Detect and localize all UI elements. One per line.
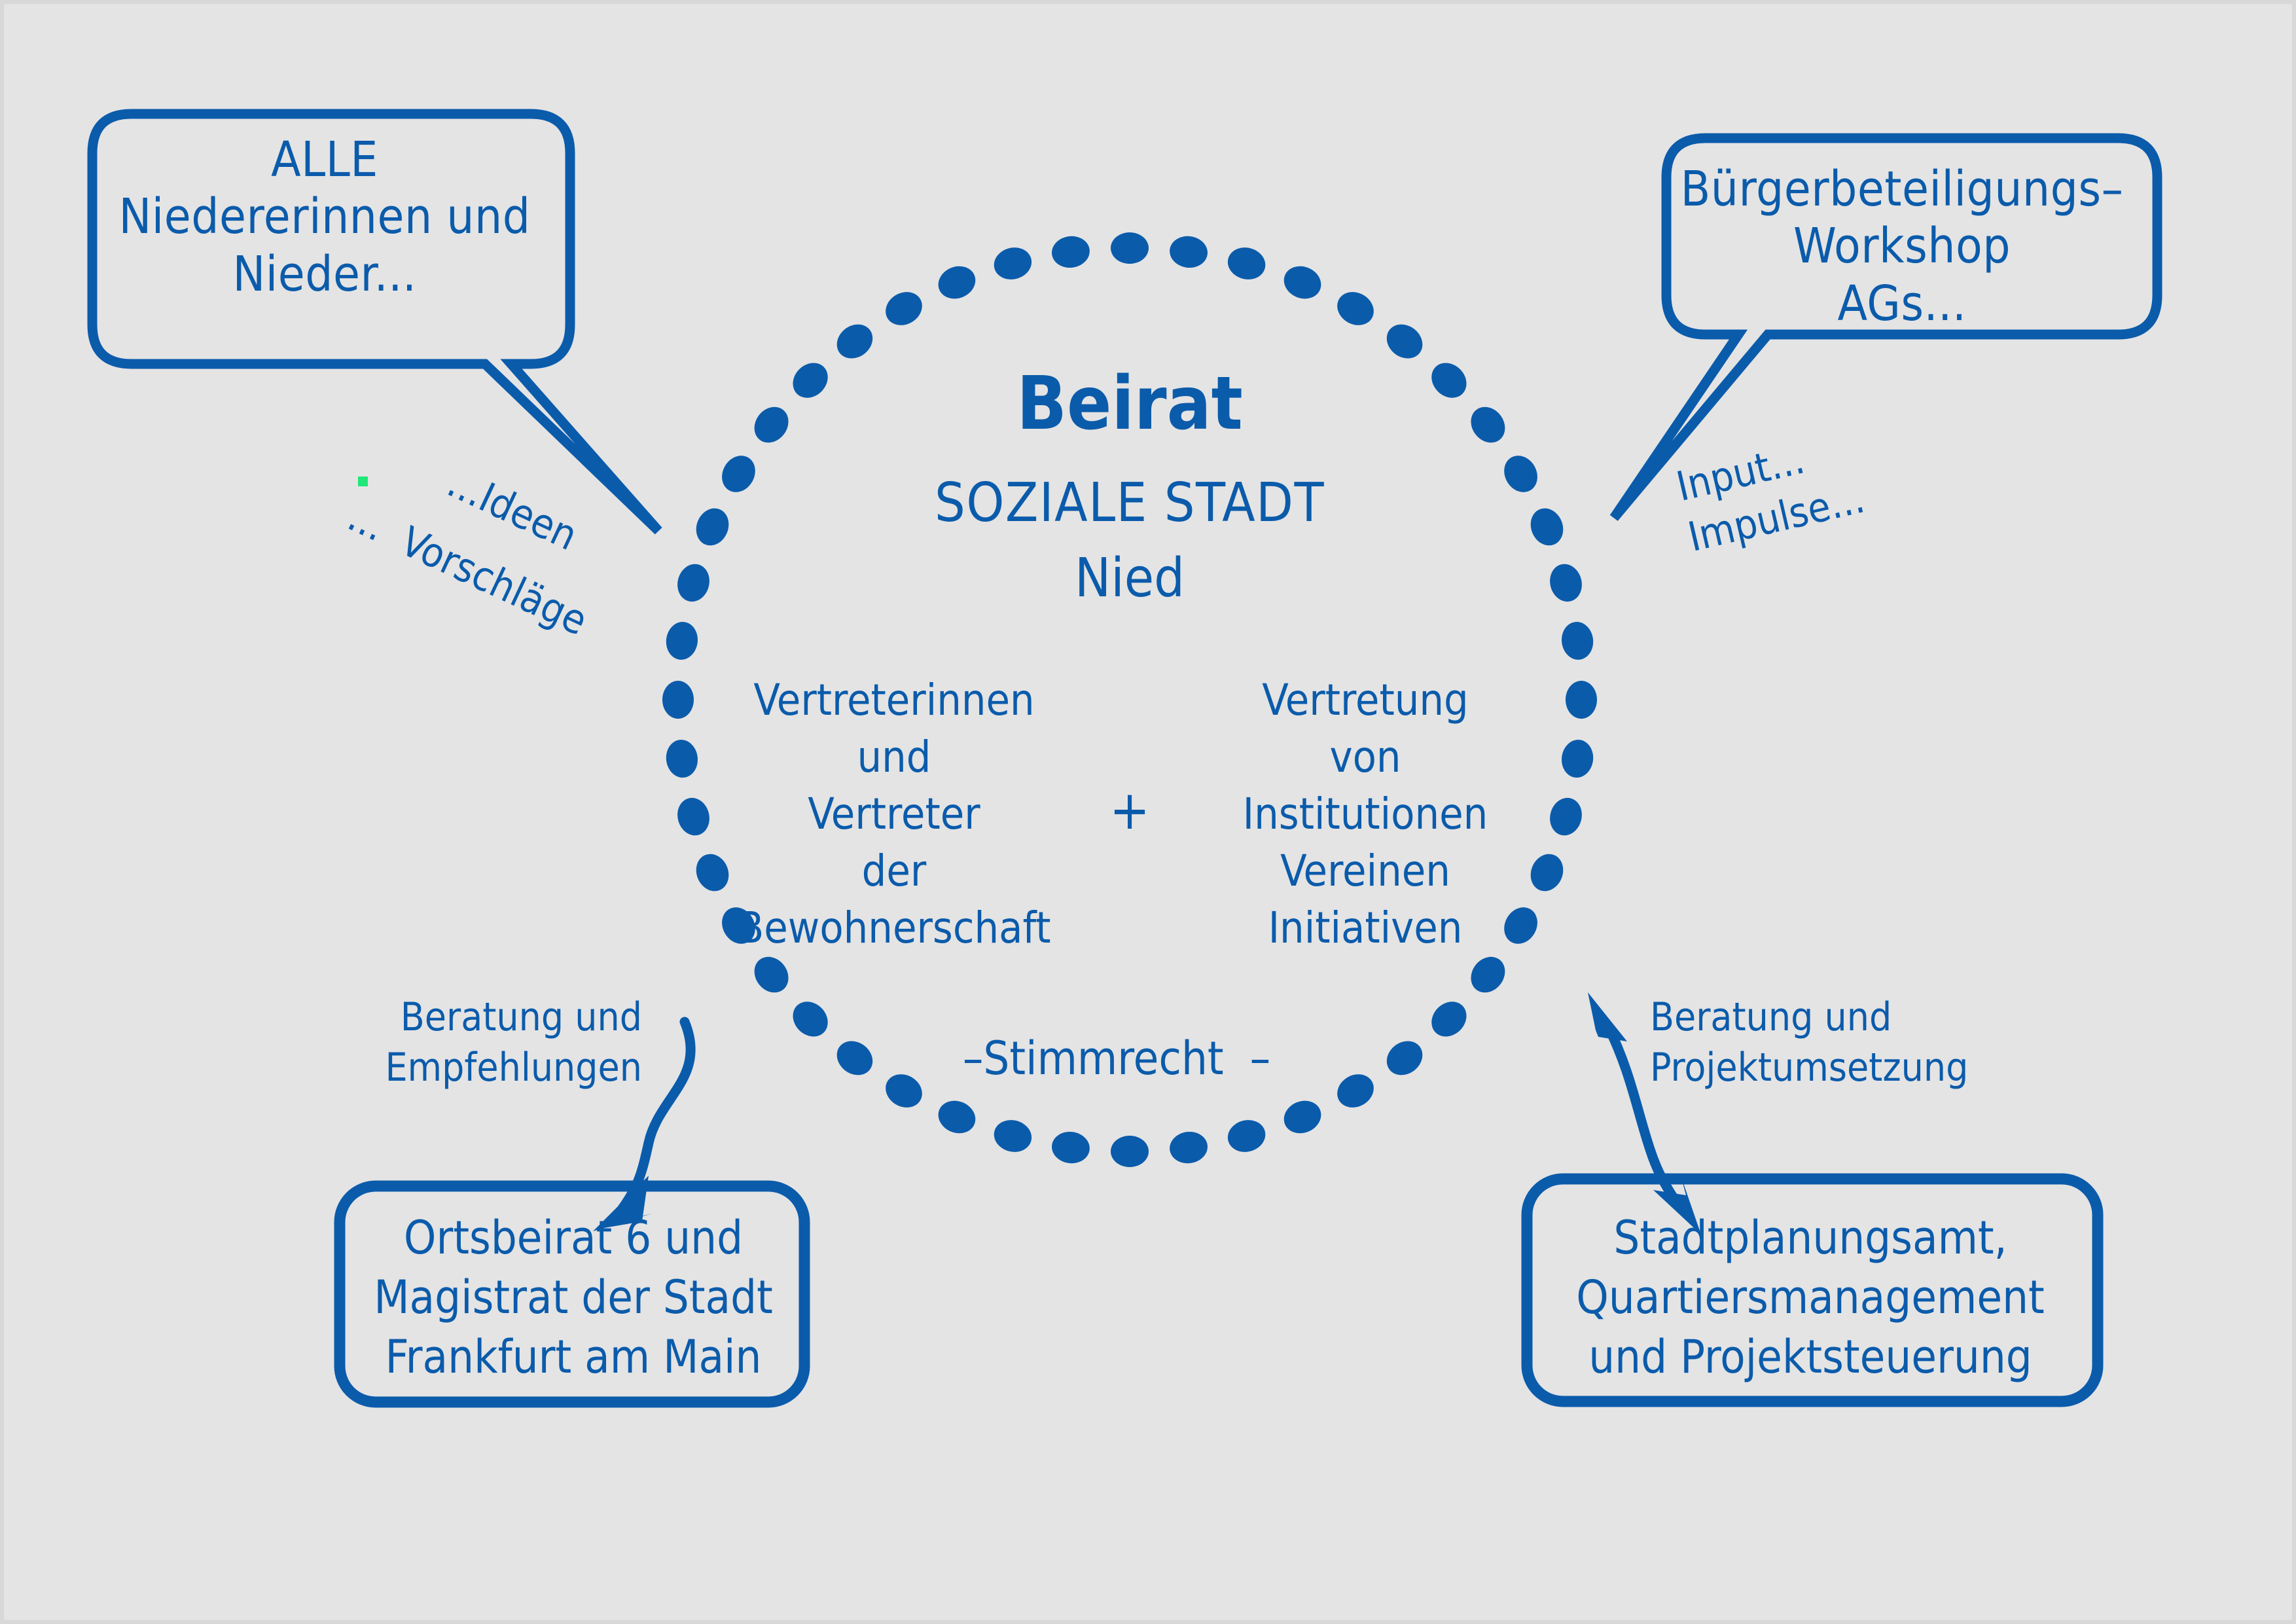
circle-dot bbox=[1224, 1116, 1268, 1156]
circle-footer-stimmrecht: –Stimmrecht – bbox=[933, 1032, 1300, 1086]
circle-dot bbox=[1111, 232, 1149, 264]
circle-dot bbox=[990, 244, 1035, 283]
bubble-top-right-label: Bürgerbeteiligungs– Workshop AGs... bbox=[1660, 161, 2144, 333]
circle-column-right: Vertretung von Institutionen Vereinen In… bbox=[1182, 672, 1549, 957]
bubble-top-left-label: ALLE Niedererinnen und Nieder... bbox=[89, 132, 560, 303]
circle-dot bbox=[990, 1116, 1035, 1156]
circle-dot bbox=[1566, 681, 1597, 719]
circle-dot bbox=[933, 261, 980, 304]
circle-dot bbox=[747, 950, 795, 999]
circle-dot bbox=[880, 1068, 928, 1114]
circle-dot bbox=[1546, 794, 1586, 839]
circle-dot bbox=[830, 317, 879, 365]
diagram-canvas: ALLE Niedererinnen und Nieder... Bürgerb… bbox=[0, 0, 2296, 1624]
circle-dot bbox=[673, 794, 713, 839]
circle-column-left: Vertreterinnen und Vertreter der Bewohne… bbox=[711, 672, 1077, 957]
circle-dot bbox=[1279, 261, 1326, 304]
circle-dot bbox=[880, 285, 928, 332]
circle-dot bbox=[1380, 317, 1429, 365]
box-bottom-right-label: Stadtplanungsamt, Quartiersmanagement un… bbox=[1522, 1208, 2098, 1387]
circle-subtitle-line1: SOZIALE STADT bbox=[802, 472, 1457, 535]
circle-dot bbox=[1050, 234, 1092, 270]
box-bottom-left-label: Ortsbeirat 6 und Magistrat der Stadt Fra… bbox=[338, 1208, 809, 1387]
circle-dot bbox=[664, 738, 700, 780]
circle-dot bbox=[1560, 738, 1596, 780]
circle-dot bbox=[1380, 1034, 1429, 1082]
circle-dot bbox=[830, 1034, 879, 1082]
circle-dot bbox=[691, 503, 734, 550]
circle-dot bbox=[673, 560, 713, 605]
edge-label-beratung-projektumsetzung: Beratung und Projektumsetzung bbox=[1650, 992, 1977, 1093]
circle-dot bbox=[1424, 994, 1473, 1043]
circle-dot bbox=[1464, 950, 1512, 999]
circle-dot bbox=[1525, 503, 1569, 550]
circle-dot bbox=[747, 400, 795, 449]
green-pixel-artifact bbox=[358, 477, 368, 486]
circle-dot bbox=[933, 1095, 980, 1139]
circle-dot bbox=[715, 450, 762, 498]
circle-dot bbox=[1224, 244, 1268, 283]
circle-dot bbox=[1331, 285, 1380, 332]
edge-label-beratung-empfehlungen: Beratung und Empfehlungen bbox=[380, 992, 642, 1093]
circle-dot bbox=[664, 620, 700, 662]
plus-symbol: + bbox=[1084, 780, 1175, 843]
circle-subtitle-line2: Nied bbox=[802, 547, 1457, 611]
circle-dot bbox=[1331, 1068, 1380, 1114]
circle-dot bbox=[1498, 450, 1544, 498]
circle-dot bbox=[1546, 560, 1586, 605]
circle-dot bbox=[662, 681, 694, 719]
circle-dot bbox=[1168, 1130, 1210, 1166]
circle-dot bbox=[1050, 1130, 1092, 1166]
circle-dot bbox=[1560, 620, 1596, 662]
circle-dot bbox=[1279, 1095, 1326, 1139]
circle-dot bbox=[786, 994, 835, 1043]
circle-dot bbox=[1111, 1136, 1149, 1167]
circle-dot bbox=[1464, 400, 1512, 449]
circle-dot bbox=[1168, 234, 1210, 270]
page-title: Beirat bbox=[802, 361, 1457, 447]
